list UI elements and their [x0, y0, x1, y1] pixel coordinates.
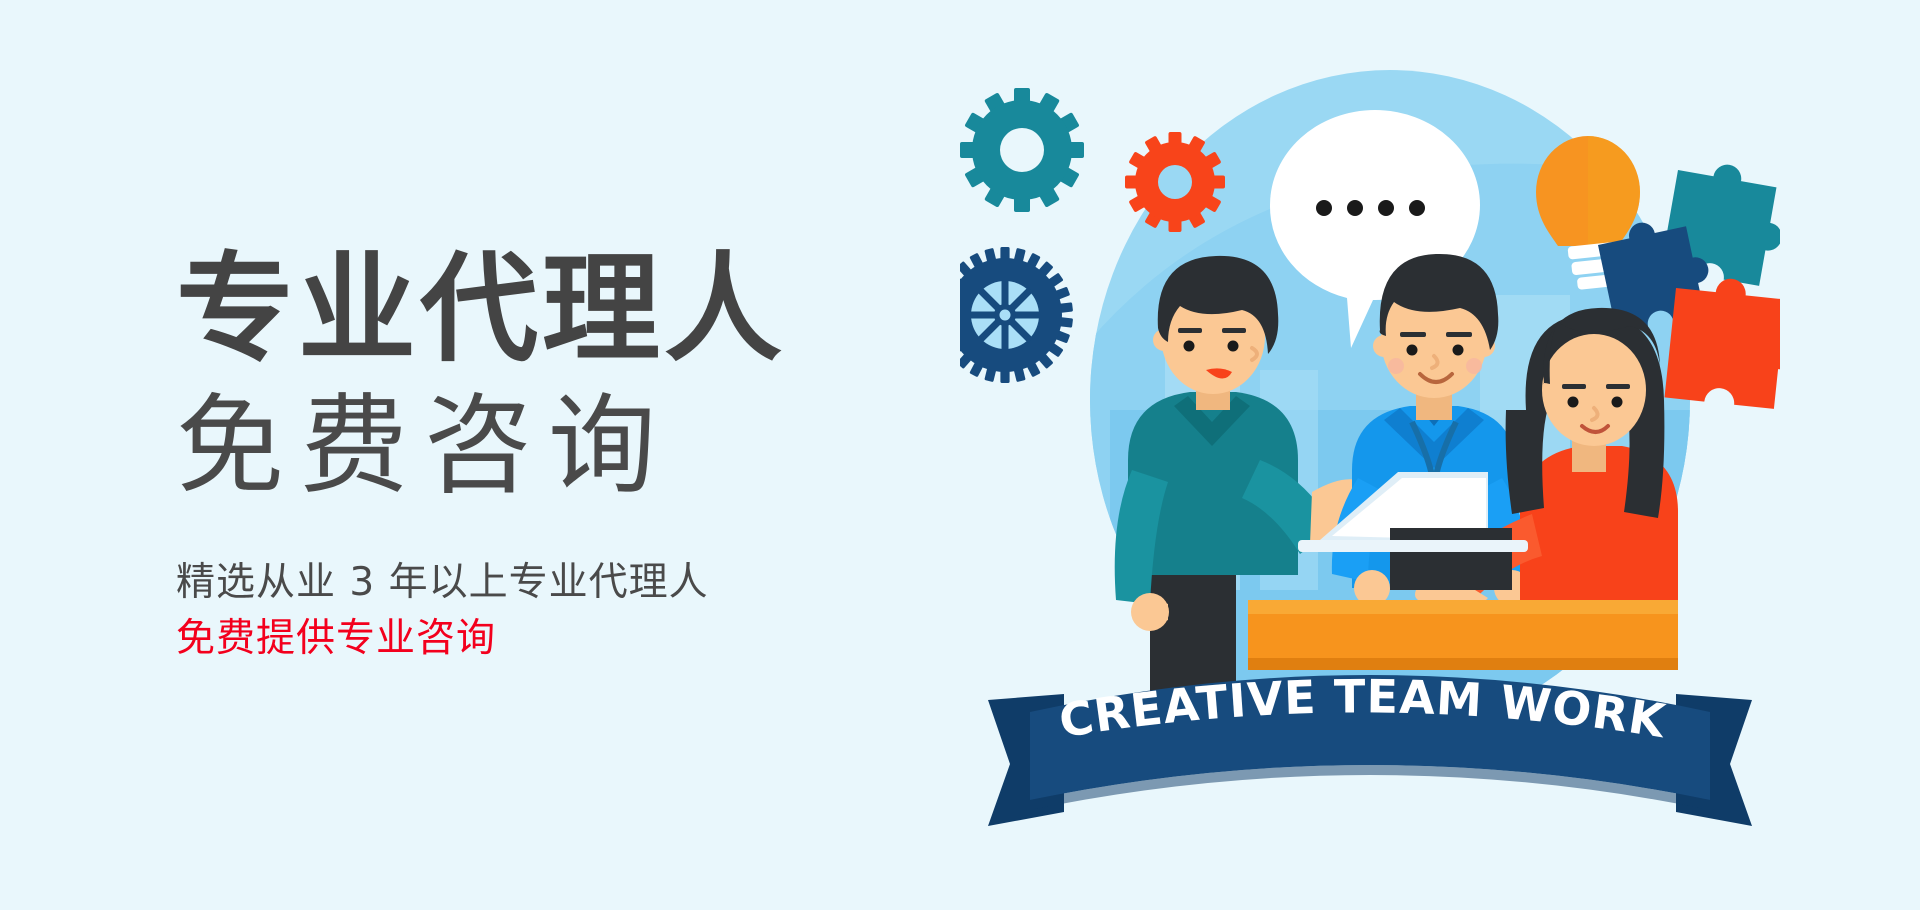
- puzzle-red-icon: [1665, 273, 1780, 410]
- subtitle-line-2-highlight: 免费提供专业咨询: [176, 611, 916, 666]
- gear-teal-icon: [960, 88, 1084, 212]
- copy-block: 专业代理人 免费咨询 精选从业 3 年以上专业代理人 免费提供专业咨询: [176, 246, 916, 666]
- teamwork-illustration: CREATIVE TEAM WORK: [960, 40, 1780, 870]
- ribbon: CREATIVE TEAM WORK: [988, 669, 1752, 826]
- gear-navy-icon: [960, 247, 1073, 383]
- promo-banner: 专业代理人 免费咨询 精选从业 3 年以上专业代理人 免费提供专业咨询: [0, 0, 1920, 910]
- headline-primary: 专业代理人: [176, 246, 916, 373]
- subtitle-line-1: 精选从业 3 年以上专业代理人: [176, 555, 916, 610]
- headline-secondary: 免费咨询: [176, 381, 916, 513]
- desk: [1248, 600, 1678, 670]
